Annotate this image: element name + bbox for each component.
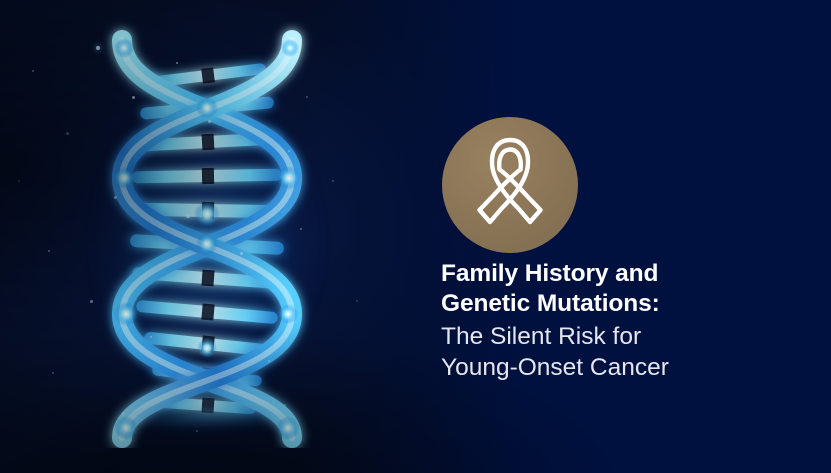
headline-line-2: Genetic Mutations: — [441, 289, 811, 319]
headline-block: Family History and Genetic Mutations: Th… — [441, 259, 811, 383]
banner-graphic: Family History and Genetic Mutations: Th… — [0, 0, 831, 473]
background-vignette — [0, 0, 831, 473]
headline-bold: Family History and Genetic Mutations: — [441, 259, 811, 319]
subheadline-line-1: The Silent Risk for — [441, 321, 811, 352]
subheadline-line-2: Young-Onset Cancer — [441, 352, 811, 383]
awareness-ribbon-badge — [442, 117, 578, 253]
headline-line-1: Family History and — [441, 259, 811, 289]
awareness-ribbon-icon — [466, 134, 554, 236]
headline-light: The Silent Risk for Young-Onset Cancer — [441, 321, 811, 383]
